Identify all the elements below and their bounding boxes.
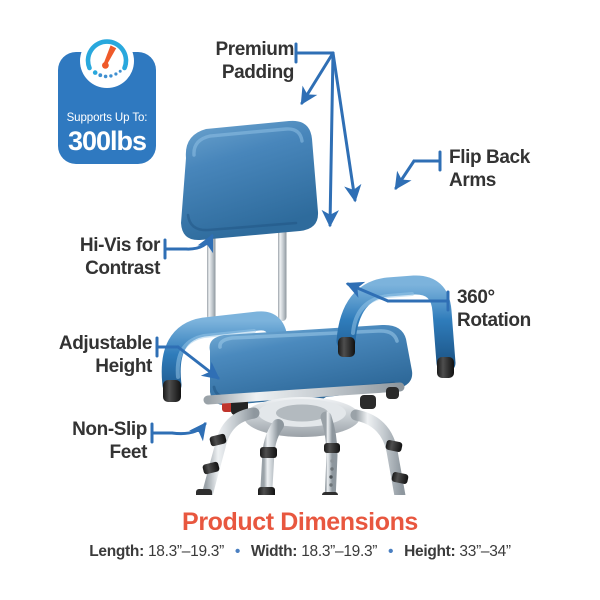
callout-360-rotation-line2: Rotation	[457, 309, 531, 332]
dimension-width: Width: 18.3”–19.3”	[251, 543, 377, 561]
dimension-length: Length: 18.3”–19.3”	[89, 543, 224, 561]
callout-premium-padding-line2: Padding	[186, 61, 294, 84]
dimension-width-label: Width:	[251, 543, 297, 560]
product-dimensions-row: Length: 18.3”–19.3” • Width: 18.3”–19.3”…	[0, 543, 600, 561]
callout-flip-back-arms-line2: Arms	[449, 169, 530, 192]
backrest-pad	[181, 121, 318, 240]
product-infographic: Supports Up To: 300lbs	[0, 0, 600, 600]
callout-360-rotation-line1: 360°	[457, 286, 531, 309]
callout-360-rotation: 360° Rotation	[457, 286, 531, 332]
callout-hi-vis-contrast-line1: Hi-Vis for	[35, 234, 160, 257]
callout-non-slip-feet-line2: Feet	[35, 441, 147, 464]
dimension-separator-2: •	[388, 544, 393, 559]
dimension-height-label: Height:	[404, 543, 455, 560]
callout-non-slip-feet-line1: Non-Slip	[35, 418, 147, 441]
callout-premium-padding-line1: Premium	[186, 38, 294, 61]
non-slip-feet	[189, 489, 418, 495]
shower-chair-product-image	[150, 95, 470, 495]
callout-adjustable-height: Adjustable Height	[20, 332, 152, 378]
callout-adjustable-height-line2: Height	[20, 355, 152, 378]
callout-flip-back-arms-line1: Flip Back	[449, 146, 530, 169]
callout-premium-padding: Premium Padding	[186, 38, 294, 84]
callout-flip-back-arms: Flip Back Arms	[449, 146, 530, 192]
dimension-length-value: 18.3”–19.3”	[148, 543, 224, 560]
product-dimensions-title: Product Dimensions	[0, 508, 600, 537]
callout-hi-vis-contrast: Hi-Vis for Contrast	[35, 234, 160, 280]
weight-capacity-badge: Supports Up To: 300lbs	[58, 52, 156, 164]
callout-hi-vis-contrast-line2: Contrast	[35, 257, 160, 280]
dimension-width-value: 18.3”–19.3”	[301, 543, 377, 560]
dimension-height-value: 33”–34”	[459, 543, 510, 560]
badge-weight-value: 300lbs	[68, 128, 146, 155]
dimension-height: Height: 33”–34”	[404, 543, 511, 561]
badge-supports-label: Supports Up To:	[67, 113, 148, 125]
callout-adjustable-height-line1: Adjustable	[20, 332, 152, 355]
callout-non-slip-feet: Non-Slip Feet	[35, 418, 147, 464]
dimension-length-label: Length:	[89, 543, 144, 560]
weight-scale-icon	[76, 30, 138, 92]
dimension-separator-1: •	[235, 544, 240, 559]
